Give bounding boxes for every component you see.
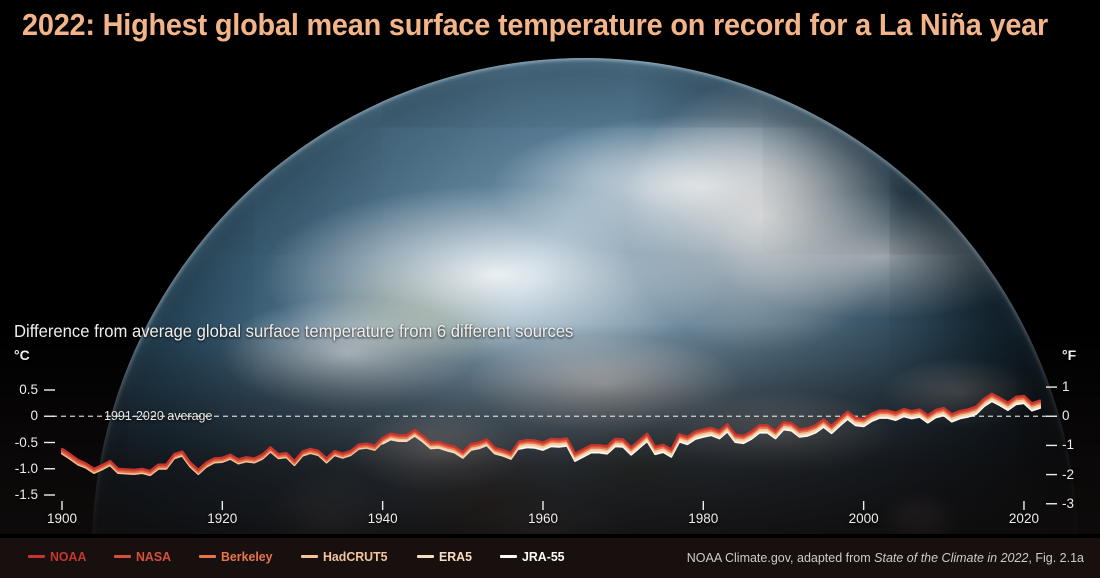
left-axis-tick-label: 0.5 [0, 382, 38, 397]
x-axis-tick-label: 2020 [994, 511, 1054, 526]
credit-line: NOAA Climate.gov, adapted from State of … [687, 551, 1084, 565]
legend-label: NASA [136, 549, 171, 564]
temperature-chart: Difference from average global surface t… [0, 0, 1100, 578]
credit-prefix: NOAA Climate.gov, adapted from [687, 551, 874, 565]
chart-legend: NOAANASABerkeleyHadCRUT5ERA5JRA-55 [28, 549, 593, 564]
legend-label: ERA5 [439, 549, 472, 564]
right-axis-tick-label: -2 [1062, 467, 1100, 482]
x-axis-tick-label: 1900 [32, 511, 92, 526]
legend-swatch-icon [301, 555, 318, 558]
right-axis-tick-label: 0 [1062, 408, 1100, 423]
x-axis-tick-label: 1920 [192, 511, 252, 526]
page-title: 2022: Highest global mean surface temper… [22, 7, 1048, 43]
legend-item-jra-55[interactable]: JRA-55 [500, 549, 567, 564]
legend-label: Berkeley [221, 549, 273, 564]
right-axis-tick-label: 1 [1062, 379, 1100, 394]
x-axis-tick-label: 2000 [834, 511, 894, 526]
left-axis-tick-label: 0 [0, 408, 38, 423]
chart-footer: NOAANASABerkeleyHadCRUT5ERA5JRA-55 NOAA … [0, 538, 1100, 578]
credit-suffix: , Fig. 2.1a [1028, 551, 1084, 565]
left-axis-tick-label: -1.0 [0, 461, 38, 476]
legend-label: JRA-55 [522, 549, 565, 564]
legend-item-era5[interactable]: ERA5 [417, 549, 474, 564]
legend-item-berkeley[interactable]: Berkeley [199, 549, 275, 564]
legend-item-hadcrut5[interactable]: HadCRUT5 [301, 549, 391, 564]
chart-plot-area [0, 0, 1100, 578]
left-axis-tick-label: -0.5 [0, 435, 38, 450]
legend-item-nasa[interactable]: NASA [114, 549, 173, 564]
legend-swatch-icon [199, 555, 216, 558]
right-axis-tick-label: -1 [1062, 437, 1100, 452]
legend-swatch-icon [500, 555, 517, 558]
title-bar: 2022: Highest global mean surface temper… [0, 0, 1100, 56]
x-axis-tick-label: 1960 [513, 511, 573, 526]
legend-label: NOAA [50, 549, 86, 564]
legend-label: HadCRUT5 [323, 549, 388, 564]
right-axis-tick-label: -3 [1062, 496, 1100, 511]
credit-source-title: State of the Climate in 2022 [874, 551, 1028, 565]
legend-item-noaa[interactable]: NOAA [28, 549, 88, 564]
series-line-noaa [62, 394, 1040, 471]
x-axis-tick-label: 1940 [353, 511, 413, 526]
left-axis-tick-label: -1.5 [0, 487, 38, 502]
legend-swatch-icon [28, 555, 45, 558]
x-axis-tick-label: 1980 [673, 511, 733, 526]
legend-swatch-icon [114, 555, 131, 558]
legend-swatch-icon [417, 555, 434, 558]
